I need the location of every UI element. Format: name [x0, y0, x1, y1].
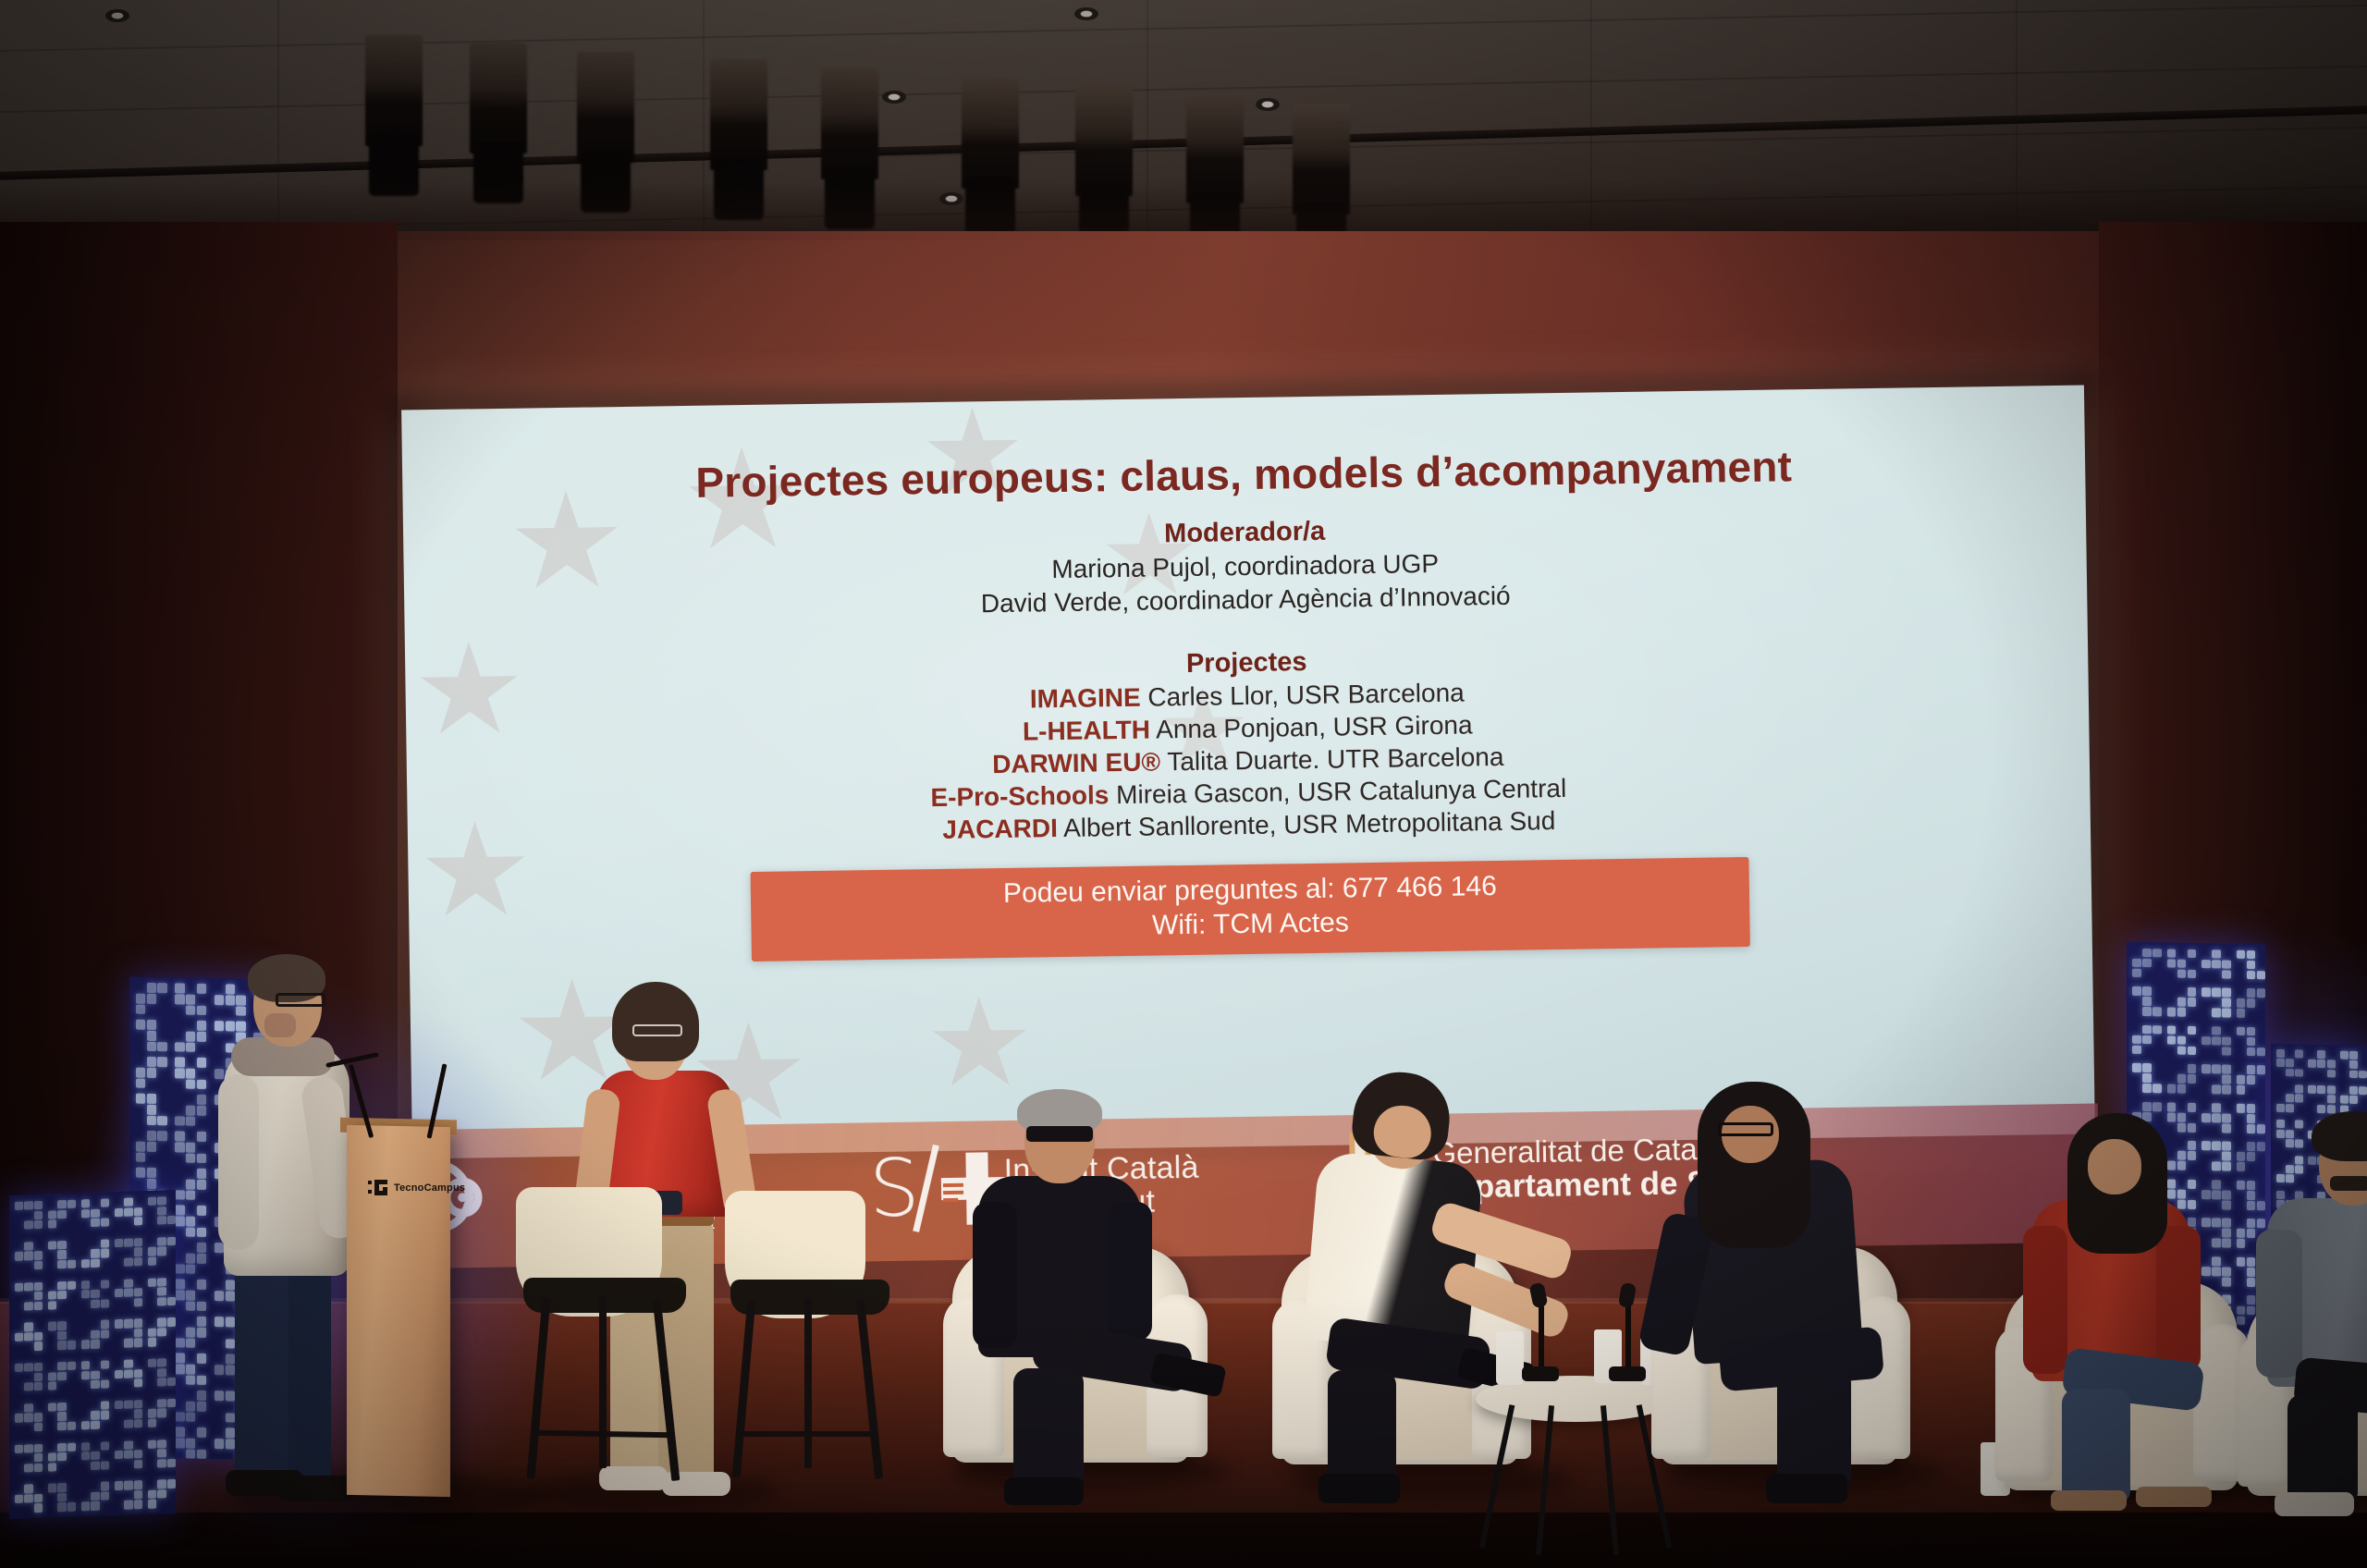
slide-title: Projectes europeus: claus, models d’acom… [443, 437, 2045, 511]
stage-light-icon [710, 59, 767, 170]
stage-light-icon [577, 52, 634, 163]
project-detail: Albert Sanllorente, USR Metropolitana Su… [1058, 806, 1556, 842]
stage-light-icon [1075, 85, 1133, 196]
ceiling-downlight-icon [882, 91, 906, 104]
project-name: IMAGINE [1030, 683, 1141, 714]
tecnocampus-logo: TecnoCampus [368, 1180, 465, 1195]
podium-brand-label: TecnoCampus [394, 1182, 465, 1194]
project-detail: Mireia Gascon, USR Catalunya Central [1109, 774, 1566, 809]
project-detail: Talita Duarte. UTR Barcelona [1160, 742, 1504, 777]
ceiling-downlight-icon [1074, 7, 1098, 20]
project-name: E-Pro-Schools [930, 780, 1109, 812]
questions-banner: Podeu enviar preguntes al: 677 466 146 W… [751, 857, 1750, 962]
project-name: L-HEALTH [1023, 716, 1150, 746]
ceiling-downlight-icon [1256, 98, 1280, 111]
project-name: DARWIN EU® [992, 747, 1160, 778]
project-detail: Anna Ponjoan, USR Girona [1150, 710, 1473, 743]
stage-light-icon [821, 68, 878, 179]
auditorium-scene: ★ ★ ★ ★ ★ ★ ★ ★ ★ ★ ★ Projectes europeus… [0, 0, 2367, 1568]
stage-light-icon [470, 43, 527, 153]
ceiling-downlight-icon [105, 9, 129, 22]
stage-light-icon [962, 78, 1019, 189]
tecnocampus-mark-icon [368, 1180, 387, 1195]
project-detail: Carles Llor, USR Barcelona [1140, 679, 1465, 712]
project-name: JACARDI [942, 814, 1058, 844]
led-light-block [9, 1190, 176, 1519]
stage-light-icon [365, 35, 423, 146]
cup [1496, 1331, 1524, 1385]
